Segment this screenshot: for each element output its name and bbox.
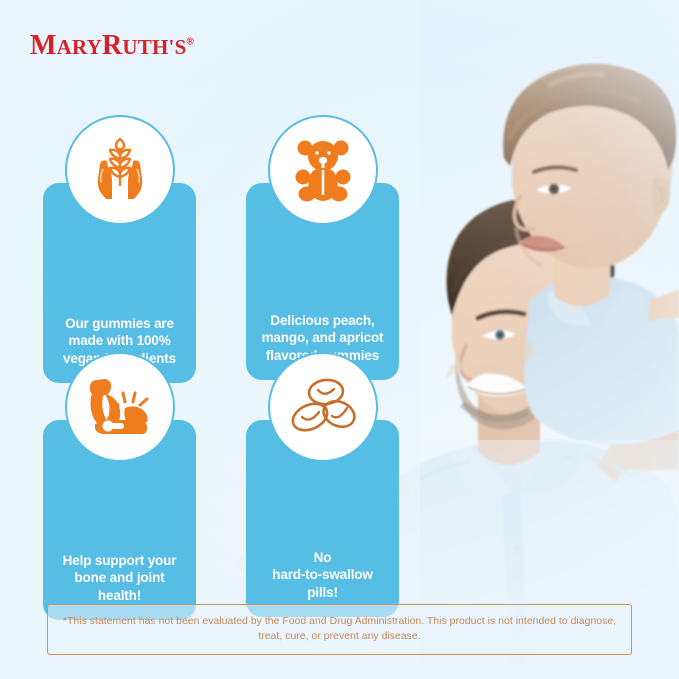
fda-disclaimer-text: *This statement has not been evaluated b… xyxy=(62,614,617,644)
brand-logo-uth: UTH xyxy=(122,35,168,59)
flexing-arm-bone-joint-icon xyxy=(85,376,155,438)
benefit-card-icon-circle xyxy=(268,352,378,462)
fda-disclaimer: *This statement has not been evaluated b… xyxy=(47,604,632,655)
pills-capsules-icon xyxy=(289,376,357,438)
brand-logo-ary: ARY xyxy=(57,35,102,59)
brand-logo-apostrophe-s: 'S xyxy=(169,35,187,59)
brand-logo-m: M xyxy=(30,30,57,61)
gummy-bear-icon xyxy=(291,137,355,203)
brand-logo-r: R xyxy=(102,30,122,61)
benefit-card-caption: Help support your bone and joint health! xyxy=(63,552,177,604)
benefit-card-icon-circle xyxy=(65,115,175,225)
registered-trademark-icon: ® xyxy=(186,36,194,47)
benefit-card-icon-circle xyxy=(65,352,175,462)
brand-logo: MARYRUTH'S® xyxy=(30,32,194,60)
product-infographic: MARYRUTH'S® Our gummies are made with 10… xyxy=(0,0,679,679)
benefit-card-icon-circle xyxy=(268,115,378,225)
benefit-card-caption: No hard-to-swallow pills! xyxy=(272,549,373,601)
hands-holding-wheat-icon xyxy=(87,137,153,203)
